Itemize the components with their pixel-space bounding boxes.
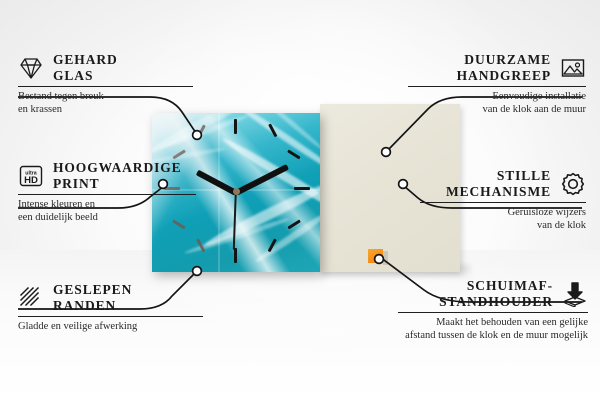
infographic-canvas: GEHARD GLAS Bestand tegen breuk en krass…: [0, 0, 600, 400]
feature-header: DUURZAME HANDGREEP: [408, 52, 586, 83]
feature-desc-line2: en krassen: [18, 104, 193, 116]
feature-desc-line2: van de klok: [420, 220, 586, 232]
feature-header: SCHUIMAF- STANDHOUDER: [398, 278, 588, 309]
feature-title: STILLE MECHANISME: [446, 168, 551, 199]
feature-desc-line1: Bestand tegen breuk: [18, 91, 193, 103]
connector-endpoint-gehard-glas: [193, 131, 202, 140]
press-down-icon: [562, 281, 588, 307]
feature-header: ultra HD HOOGWAARDIGE PRINT: [18, 160, 196, 191]
feature-desc-line1: Eenvoudige installatie: [408, 91, 586, 103]
feature-title: SCHUIMAF- STANDHOUDER: [439, 278, 553, 309]
picture-frame-icon: [560, 55, 586, 81]
feature-title: HOOGWAARDIGE PRINT: [53, 160, 182, 191]
feature-desc-line1: Maakt het behouden van een gelijke: [398, 317, 588, 329]
feature-header: GESLEPEN RANDEN: [18, 282, 203, 313]
connector-endpoint-mechanisme: [399, 180, 408, 189]
feature-divider: [18, 86, 193, 87]
feature-gehard-glas: GEHARD GLAS Bestand tegen breuk en krass…: [18, 52, 193, 116]
beveled-edges-icon: [18, 285, 44, 311]
connector-endpoint-handgreep: [382, 148, 391, 157]
feature-desc-line1: Intense kleuren en: [18, 199, 196, 211]
ultra-hd-icon: ultra HD: [18, 163, 44, 189]
feature-desc-line2: van de klok aan de muur: [408, 104, 586, 116]
connector-endpoint-randen: [193, 267, 202, 276]
feature-duurzame-handgreep: DUURZAME HANDGREEP Eenvoudige installati…: [408, 52, 586, 116]
feature-geslepen-randen: GESLEPEN RANDEN Gladde en veilige afwerk…: [18, 282, 203, 334]
feature-title: DUURZAME HANDGREEP: [457, 52, 551, 83]
feature-schuimafstandhouder: SCHUIMAF- STANDHOUDER Maakt het behouden…: [398, 278, 588, 342]
feature-title: GEHARD GLAS: [53, 52, 163, 83]
feature-hoogwaardige-print: ultra HD HOOGWAARDIGE PRINT Intense kleu…: [18, 160, 196, 224]
connector-endpoint-schuimaf: [375, 255, 384, 264]
feature-divider: [18, 316, 203, 317]
feature-desc-line2: een duidelijk beeld: [18, 212, 196, 224]
feature-divider: [18, 194, 196, 195]
feature-divider: [398, 312, 588, 313]
gear-icon: [560, 171, 586, 197]
feature-title: GESLEPEN RANDEN: [53, 282, 163, 313]
feature-divider: [408, 86, 586, 87]
feature-stille-mechanisme: STILLE MECHANISME Geruisloze wijzers van…: [420, 168, 586, 232]
diamond-icon: [18, 55, 44, 81]
feature-header: STILLE MECHANISME: [420, 168, 586, 199]
feature-desc-line2: afstand tussen de klok en de muur mogeli…: [398, 330, 588, 342]
feature-desc-line1: Gladde en veilige afwerking: [18, 321, 203, 333]
feature-header: GEHARD GLAS: [18, 52, 193, 83]
feature-desc-line1: Geruisloze wijzers: [420, 207, 586, 219]
ultra-hd-icon-large-text: HD: [24, 174, 38, 185]
feature-divider: [420, 202, 586, 203]
